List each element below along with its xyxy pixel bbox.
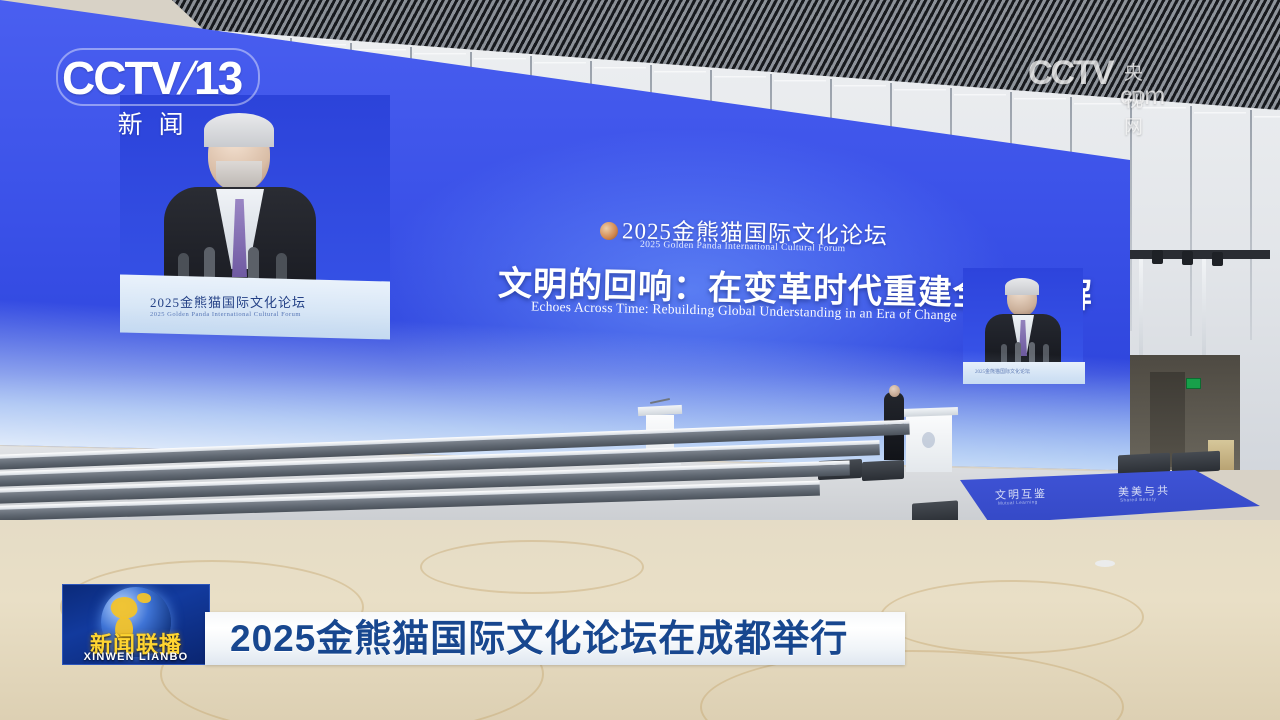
- left-screen-caption-en: 2025 Golden Panda International Cultural…: [150, 311, 365, 318]
- stage-spotlight: [1212, 252, 1223, 266]
- speaker-head: [889, 385, 900, 397]
- exit-sign: [1186, 378, 1201, 389]
- stage-spotlight: [1182, 251, 1193, 265]
- cctv13-sub-label: 新闻: [62, 105, 241, 141]
- right-screen-feed: [963, 268, 1083, 368]
- cctvcom-cn-label: 央视网: [1124, 58, 1164, 139]
- left-screen-caption-cn: 2025金熊猫国际文化论坛: [150, 292, 360, 311]
- right-screen-caption-cn: 2025金熊猫国际文化论坛: [975, 368, 1030, 375]
- headline-text: 2025金熊猫国际文化论坛在成都举行: [230, 617, 848, 661]
- cctv13-logo-text: CCTV/13: [62, 55, 241, 101]
- xinwen-lianbo-logo: 新闻联播 XINWEN LIANBO: [62, 584, 210, 665]
- floor-object: [1095, 560, 1115, 567]
- stage-monitor-wedge: [1172, 451, 1220, 474]
- cctvcom-watermark: CCTV com 央视网: [1028, 56, 1164, 109]
- golden-panda-emblem-icon: [600, 222, 618, 240]
- xinwen-lianbo-en: XINWEN LIANBO: [63, 651, 209, 663]
- lighting-truss: [1130, 250, 1270, 259]
- cctv13-watermark: CCTV/13 新闻: [62, 55, 241, 141]
- hanging-strip-right: [1202, 252, 1206, 357]
- stage-spotlight: [1152, 250, 1163, 264]
- broadcast-frame: 2025金熊猫国际文化论坛 2025 Golden Panda Internat…: [0, 0, 1280, 720]
- hanging-strip-left: [1139, 252, 1143, 357]
- right-lectern-emblem: [922, 432, 935, 448]
